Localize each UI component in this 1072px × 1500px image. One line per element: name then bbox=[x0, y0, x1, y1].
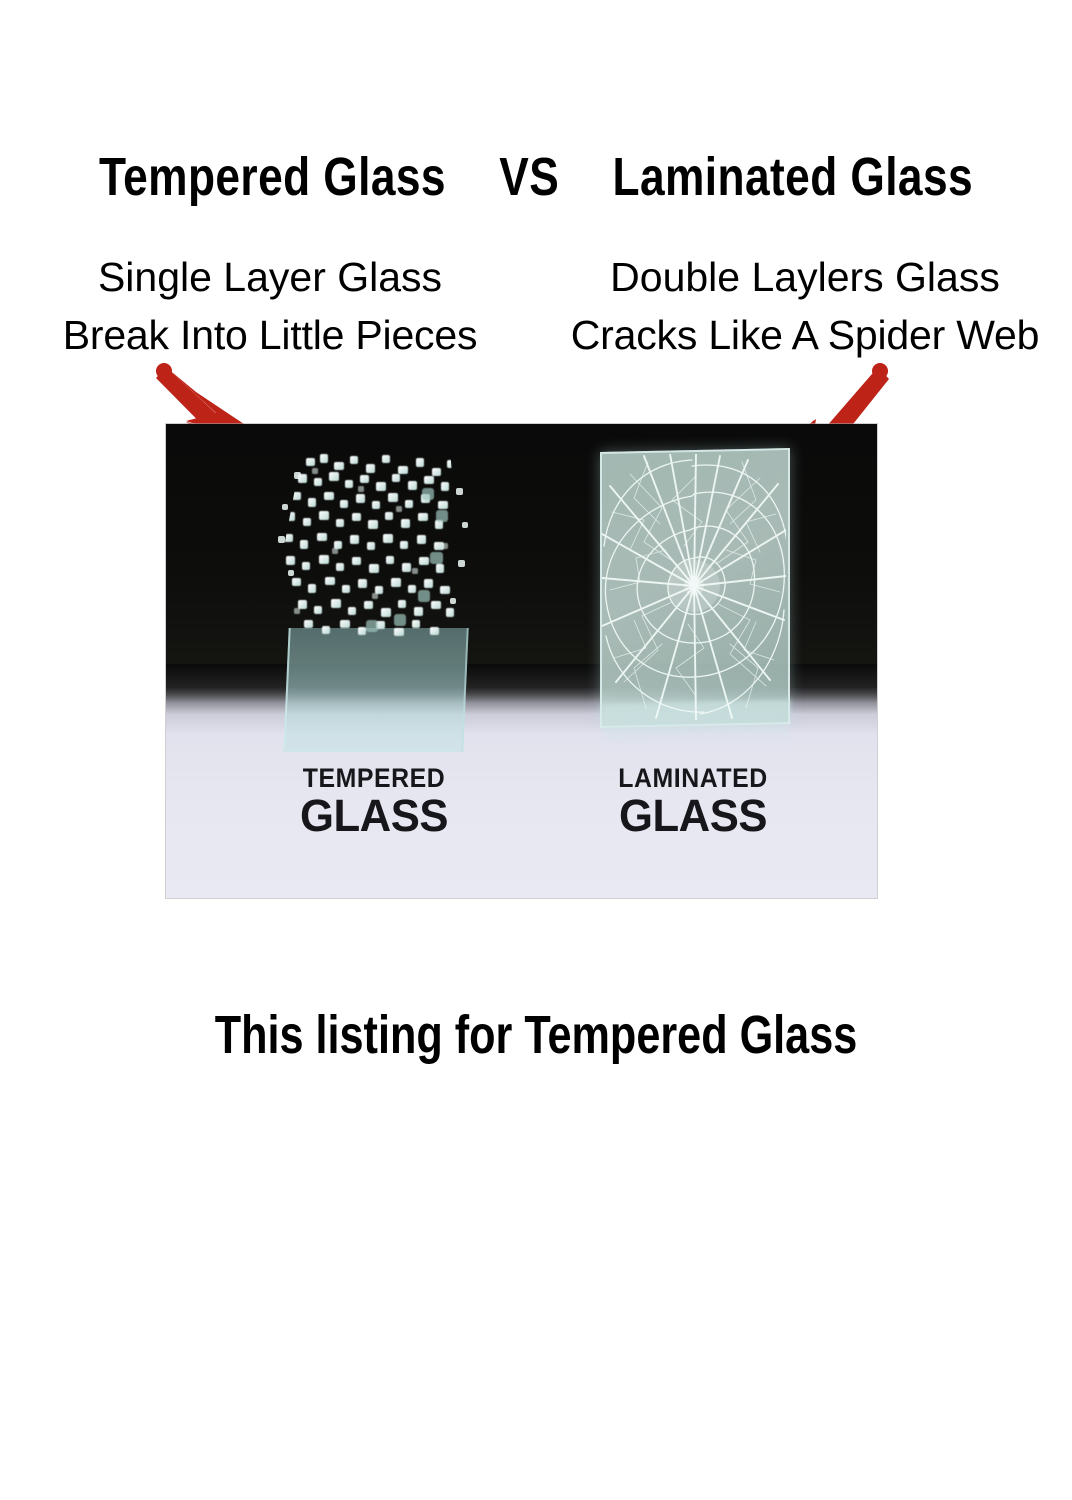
title-vs-separator: VS bbox=[499, 146, 559, 208]
glass-comparison-photo: TEMPERED GLASS LAMINATED GLASS bbox=[166, 424, 877, 898]
photo-label-tempered-top: TEMPERED bbox=[265, 764, 482, 793]
photo-label-tempered: TEMPERED GLASS bbox=[256, 764, 492, 839]
listing-note: This listing for Tempered Glass bbox=[107, 1002, 965, 1068]
photo-label-tempered-bottom: GLASS bbox=[260, 793, 489, 839]
caption-row: Single Layer Glass Break Into Little Pie… bbox=[0, 248, 1072, 366]
caption-tempered-line1: Single Layer Glass bbox=[6, 248, 534, 306]
laminated-glass-panel bbox=[600, 450, 788, 748]
photo-label-laminated: LAMINATED GLASS bbox=[570, 764, 816, 839]
page-title: Tempered Glass VS Laminated Glass bbox=[96, 146, 975, 208]
caption-laminated-line2: Cracks Like A Spider Web bbox=[538, 306, 1072, 364]
photo-label-laminated-bottom: GLASS bbox=[574, 793, 813, 839]
caption-laminated: Double Laylers Glass Cracks Like A Spide… bbox=[538, 248, 1072, 364]
title-right-term: Laminated Glass bbox=[613, 146, 974, 208]
title-left-term: Tempered Glass bbox=[99, 146, 446, 208]
tempered-shatter-pattern bbox=[272, 448, 470, 748]
tempered-glass-panel bbox=[272, 448, 470, 748]
caption-tempered: Single Layer Glass Break Into Little Pie… bbox=[6, 248, 534, 364]
caption-tempered-line2: Break Into Little Pieces bbox=[6, 306, 534, 364]
photo-label-laminated-top: LAMINATED bbox=[580, 764, 806, 793]
laminated-crack-pattern bbox=[600, 450, 788, 748]
caption-laminated-line1: Double Laylers Glass bbox=[538, 248, 1072, 306]
